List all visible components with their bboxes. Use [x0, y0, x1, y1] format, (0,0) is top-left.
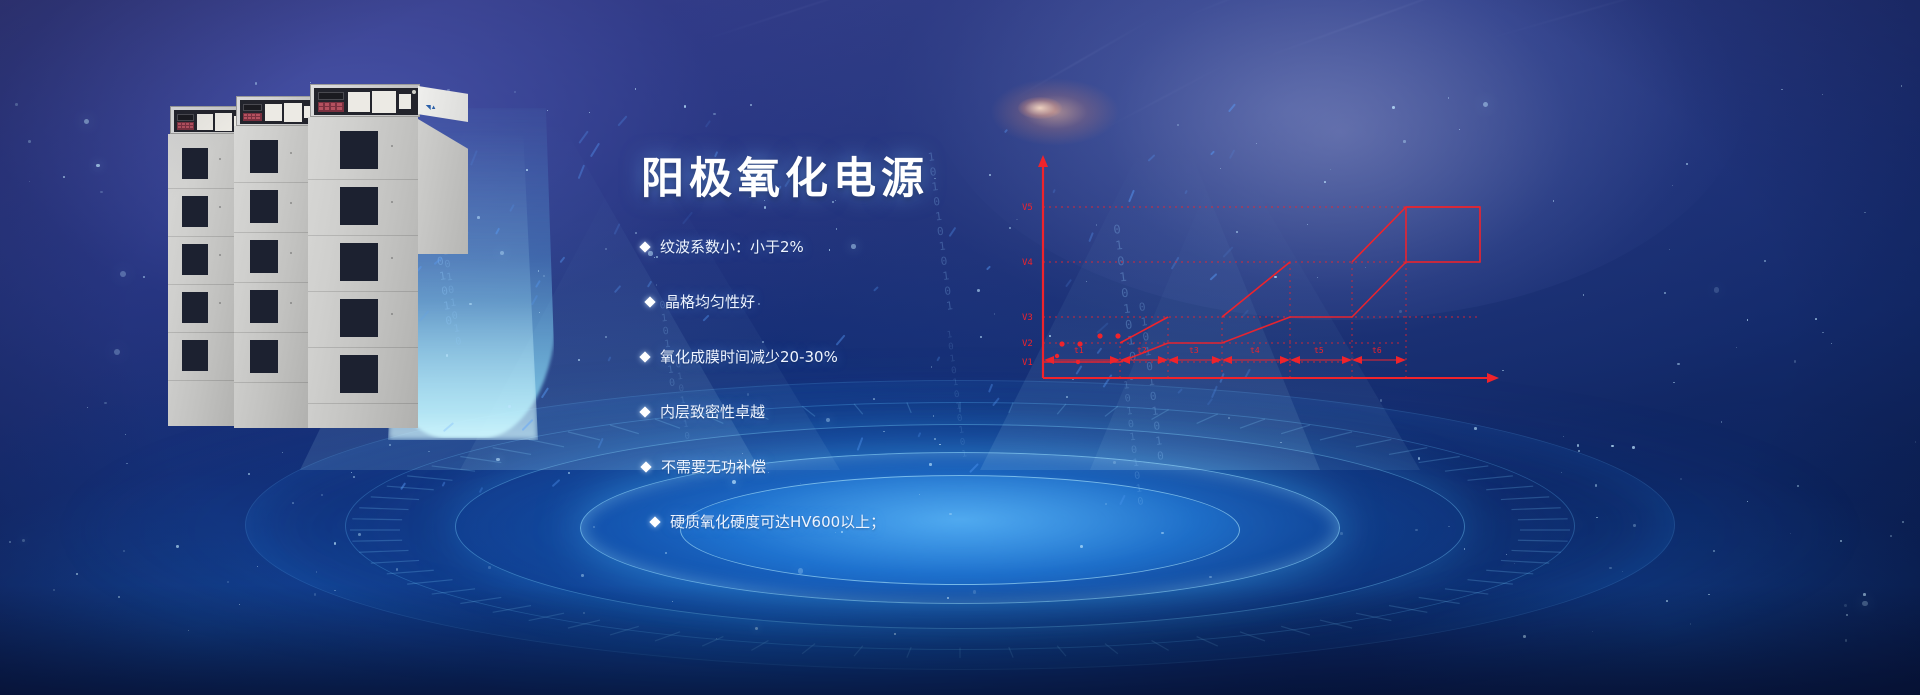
particle-dash — [1210, 150, 1215, 155]
cabinet-middle-body — [234, 126, 310, 428]
particle-dot — [1096, 224, 1098, 226]
cabinet-right-panel-face — [314, 88, 418, 115]
particle-dot — [176, 545, 178, 547]
diamond-marker-icon — [644, 296, 655, 307]
particle-dot — [1415, 529, 1418, 532]
particle-dot — [1664, 292, 1666, 294]
particle-dash — [682, 212, 693, 225]
particle-dot — [188, 630, 189, 631]
cabinet-left-body — [168, 134, 240, 426]
particle-dot — [1483, 102, 1489, 108]
particle-dot — [1583, 294, 1584, 295]
cabinet-middle — [234, 96, 318, 428]
particle-dot — [1708, 594, 1710, 596]
particle-dot — [123, 550, 125, 552]
particle-dot — [334, 590, 335, 591]
particle-dot — [428, 451, 430, 453]
particle-dash — [614, 223, 621, 235]
particle-dot — [1514, 563, 1515, 564]
particle-dash — [400, 482, 406, 490]
particle-dot — [1403, 140, 1405, 142]
particle-dot — [239, 604, 240, 605]
particle-dot — [1822, 94, 1823, 95]
particle-dot — [1713, 550, 1715, 552]
particle-dot — [1595, 484, 1597, 486]
particle-dot — [1042, 184, 1044, 186]
schematic-xlabel-t4: t4 — [1250, 346, 1260, 355]
cabinet-middle-keypad — [243, 113, 262, 121]
particle-dash — [1147, 154, 1155, 162]
particle-dot — [1736, 347, 1738, 349]
particle-dot — [508, 405, 511, 408]
particle-dot — [547, 110, 548, 111]
particle-dot — [581, 574, 584, 577]
particle-dot — [1448, 526, 1450, 528]
bottom-fade-overlay — [0, 585, 1920, 695]
particle-dash — [521, 419, 533, 431]
particle-dot — [589, 112, 590, 113]
particle-dot — [1890, 535, 1892, 537]
particle-dot — [100, 191, 103, 194]
particle-dot — [1236, 231, 1238, 233]
list-item: 氧化成膜时间减少20-30% — [641, 346, 1201, 367]
particle-dot — [15, 103, 18, 106]
particle-dot — [1680, 478, 1682, 480]
particle-dash — [598, 437, 604, 448]
particle-dash — [1053, 189, 1057, 194]
particle-dot — [1794, 360, 1796, 362]
particle-dot — [321, 494, 323, 496]
bullet-text: 氧化成膜时间减少20-30% — [660, 346, 838, 367]
particle-dot — [1016, 219, 1018, 221]
particle-dot — [1863, 593, 1866, 596]
particle-dot — [1365, 267, 1366, 268]
particle-dot — [665, 552, 667, 554]
particle-dot — [316, 571, 318, 573]
schematic-x-arrowhead — [1487, 373, 1499, 383]
particle-dot — [1380, 399, 1382, 401]
particle-dash — [441, 482, 445, 488]
particle-dash — [1128, 190, 1135, 203]
particle-dot — [1669, 249, 1670, 250]
cabinet-right-control-head — [310, 84, 420, 117]
bullet-text: 纹波系数小：小于2% — [660, 236, 804, 257]
schematic-y-arrowhead — [1038, 155, 1048, 167]
particle-dot — [539, 312, 540, 313]
diamond-marker-icon — [640, 461, 651, 472]
bullet-text: 内层致密性卓越 — [660, 401, 765, 422]
particle-dash — [578, 130, 589, 144]
cabinet-middle-label-b — [284, 103, 302, 122]
particle-dot — [9, 541, 11, 543]
bullet-text: 硬质氧化硬度可达HV600以上； — [670, 511, 885, 532]
ambient-glow-bottom-right — [1220, 400, 1920, 695]
particle-dot — [87, 407, 88, 408]
particle-dot — [526, 169, 528, 171]
cabinet-middle-control-head — [236, 96, 316, 126]
particle-dot — [568, 472, 570, 474]
particle-dot — [22, 539, 25, 542]
particle-dash — [535, 280, 541, 288]
lens-flare-glow — [990, 78, 1120, 146]
diamond-marker-icon — [639, 241, 650, 252]
particle-dot — [1901, 85, 1902, 86]
particle-dot — [1764, 260, 1766, 262]
particle-dot — [894, 633, 896, 635]
particle-dot — [1209, 576, 1211, 578]
particle-dot — [934, 178, 936, 180]
list-item: 硬质氧化硬度可达HV600以上； — [651, 511, 1201, 532]
particle-dot — [1418, 457, 1421, 460]
particle-dot — [118, 596, 120, 598]
schematic-xlabel-t5: t5 — [1314, 346, 1324, 355]
particle-dot — [1553, 200, 1555, 202]
particle-dot — [1459, 129, 1460, 130]
diamond-marker-icon — [649, 516, 660, 527]
particle-dot — [1399, 310, 1401, 312]
particle-dash — [495, 227, 500, 234]
particle-dot — [1563, 436, 1564, 437]
particle-dot — [755, 627, 758, 630]
cabinet-left-label-a — [197, 114, 213, 130]
particle-dot — [1747, 319, 1749, 321]
particle-dash — [559, 257, 565, 263]
particle-dot — [496, 458, 500, 462]
particle-dot — [1220, 168, 1222, 170]
particle-dot — [1632, 446, 1635, 449]
particle-dot — [1845, 639, 1848, 642]
particle-dot — [1523, 635, 1526, 638]
particle-dot — [672, 601, 673, 602]
particle-dot — [353, 476, 355, 478]
cabinet-right: ◥▲ — [308, 84, 468, 428]
particle-dot — [1228, 417, 1230, 419]
particle-dot — [126, 463, 128, 465]
particle-dot — [1392, 106, 1395, 109]
particle-dot — [605, 336, 607, 338]
cabinet-right-indicator — [412, 90, 416, 94]
particle-dot — [583, 612, 584, 613]
particle-dot — [593, 526, 595, 528]
list-item: 内层致密性卓越 — [641, 401, 1201, 422]
particle-dot — [1464, 548, 1466, 550]
particle-dot — [1561, 472, 1563, 474]
particle-dot — [514, 91, 516, 93]
particle-dot — [578, 359, 580, 361]
cabinet-middle-lcd — [243, 104, 262, 111]
particle-dot — [973, 590, 976, 593]
particle-dot — [1080, 545, 1083, 548]
particle-dot — [1577, 444, 1579, 446]
cabinet-left-keypad — [177, 122, 194, 130]
particle-dot — [310, 82, 311, 83]
particle-dash — [578, 165, 585, 179]
particle-dot — [1721, 421, 1722, 422]
cabinet-middle-panel-face — [240, 100, 314, 124]
cabinet-right-label-b — [372, 91, 396, 113]
particle-dash — [1229, 149, 1236, 159]
particle-dot — [1622, 571, 1623, 572]
particle-dot — [1340, 532, 1343, 535]
schematic-waveform-ramp2 — [1222, 262, 1290, 317]
particle-dash — [617, 116, 627, 127]
particle-dot — [351, 472, 352, 473]
particle-dot — [1633, 524, 1636, 527]
particle-dot — [1840, 540, 1842, 542]
particle-dot — [1862, 601, 1867, 606]
particle-dot — [1677, 363, 1679, 365]
page-title: 阳极氧化电源 — [641, 144, 929, 206]
particle-dot — [1846, 614, 1848, 616]
particle-dot — [1747, 501, 1748, 502]
particle-dot — [1324, 181, 1326, 183]
particle-dot — [713, 113, 716, 116]
particle-dash — [1244, 369, 1251, 379]
particle-dot — [1592, 631, 1593, 632]
particle-dot — [605, 248, 607, 250]
particle-dot — [500, 251, 504, 255]
list-item: 纹波系数小：小于2% — [641, 236, 1201, 257]
particle-dot — [1714, 287, 1719, 292]
particle-dash — [704, 120, 710, 127]
cabinet-left-lcd — [177, 114, 194, 121]
particle-dot — [684, 105, 686, 107]
particle-dot — [114, 349, 120, 355]
particle-dot — [1177, 124, 1179, 126]
particle-dot — [635, 88, 637, 90]
particle-dash — [1241, 310, 1249, 319]
particle-dot — [1307, 224, 1308, 225]
particle-dot — [488, 566, 491, 569]
particle-dash — [478, 487, 483, 493]
particle-dot — [1686, 163, 1688, 165]
schematic-ylabel-v5: V5 — [1022, 203, 1033, 213]
particle-dot — [1831, 343, 1832, 344]
particle-dash — [614, 285, 622, 293]
particle-dot — [1502, 370, 1503, 371]
particle-dot — [1864, 212, 1866, 214]
particle-dash — [1222, 246, 1233, 258]
particle-dot — [1256, 143, 1257, 144]
particle-dot — [282, 452, 283, 453]
particle-dash — [1184, 190, 1188, 195]
particle-dash — [1209, 273, 1217, 280]
particle-dot — [1611, 445, 1613, 447]
particle-dot — [334, 542, 337, 545]
particle-dot — [358, 533, 361, 536]
particle-dot — [125, 434, 126, 435]
particle-dot — [84, 119, 89, 124]
particle-dot — [1448, 97, 1449, 98]
cabinet-right-side-face — [418, 119, 468, 254]
particle-dot — [29, 181, 30, 182]
particle-dot — [836, 228, 838, 230]
particle-dot — [798, 568, 804, 574]
list-item: 不需要无功补偿 — [642, 456, 1201, 477]
particle-dot — [716, 638, 717, 639]
particle-dot — [1673, 382, 1674, 383]
particle-dot — [104, 402, 107, 405]
cabinet-right-lcd — [318, 92, 344, 100]
particle-dot — [1672, 185, 1674, 187]
schematic-waveform-ramp — [1352, 207, 1406, 262]
particle-dot — [1915, 441, 1916, 442]
particle-dot — [53, 589, 55, 591]
particle-dot — [1844, 604, 1847, 607]
particle-dot — [764, 206, 767, 209]
particle-dot — [1474, 427, 1477, 430]
particle-dot — [635, 232, 637, 234]
particle-dot — [76, 573, 78, 575]
cabinet-brand-logo: ◥▲ — [426, 104, 437, 111]
cabinet-right-body — [308, 117, 418, 428]
particle-dot — [120, 271, 126, 277]
particle-dot — [750, 104, 751, 105]
particle-dot — [1274, 276, 1276, 278]
particle-dot — [1009, 227, 1011, 229]
cabinet-middle-label-a — [265, 104, 282, 121]
diamond-marker-icon — [639, 351, 650, 362]
particle-dot — [1781, 89, 1783, 91]
particle-dash — [552, 479, 561, 487]
list-item: 晶格均匀性好 — [646, 291, 1201, 312]
particle-dot — [143, 276, 145, 278]
particle-dash — [509, 204, 515, 212]
particle-dot — [543, 275, 545, 277]
particle-dot — [1902, 521, 1904, 523]
particle-dot — [292, 502, 294, 504]
particle-dot — [314, 593, 317, 596]
particle-dash — [1219, 373, 1224, 383]
cabinet-right-keypad — [318, 102, 344, 112]
particle-dot — [1609, 567, 1612, 570]
particle-dash — [531, 294, 538, 305]
particle-dot — [538, 270, 540, 272]
schematic-xlabel-t6: t6 — [1372, 346, 1382, 355]
particle-dash — [607, 357, 611, 362]
particle-dot — [389, 444, 391, 446]
particle-dot — [989, 174, 991, 176]
particle-dot — [1330, 169, 1331, 170]
cabinet-right-breaker — [399, 94, 411, 109]
particle-dash — [1211, 386, 1218, 398]
particle-dot — [96, 164, 100, 168]
feature-bullet-list: 纹波系数小：小于2% 晶格均匀性好 氧化成膜时间减少20-30% 内层致密性卓越… — [641, 236, 1201, 532]
particle-dot — [1690, 623, 1691, 624]
cabinet-right-label-a — [348, 92, 370, 112]
particle-dot — [947, 597, 949, 599]
particle-dot — [1506, 554, 1507, 555]
particle-dot — [1280, 442, 1281, 443]
bullet-text: 晶格均匀性好 — [665, 291, 755, 312]
diamond-marker-icon — [639, 406, 650, 417]
particle-dash — [541, 387, 549, 398]
particle-dot — [396, 568, 398, 570]
particle-dot — [227, 581, 229, 583]
particle-dash — [1207, 399, 1213, 406]
banner-stage: 0101010101010101010100101010101010101010… — [0, 0, 1920, 695]
particle-dash — [1004, 129, 1008, 133]
particle-dot — [248, 473, 250, 475]
particle-dot — [1666, 600, 1668, 602]
particle-dot — [1596, 517, 1597, 518]
particle-dot — [1797, 485, 1799, 487]
particle-dot — [63, 176, 65, 178]
particle-dot — [257, 566, 258, 567]
bullet-text: 不需要无功补偿 — [661, 456, 766, 477]
equipment-cabinets: ◥▲ — [168, 84, 478, 444]
particle-dot — [1815, 318, 1817, 320]
cabinet-left-label-b — [215, 113, 232, 131]
particle-dash — [590, 143, 600, 158]
ambient-glow-bottom-left — [0, 400, 630, 695]
particle-dash — [1228, 104, 1236, 113]
particle-dot — [28, 140, 31, 143]
particle-dot — [1578, 450, 1580, 452]
particle-dot — [1822, 332, 1824, 334]
particle-dot — [1790, 533, 1791, 534]
particle-dot — [1317, 277, 1319, 279]
lens-flare-core — [1018, 97, 1062, 119]
